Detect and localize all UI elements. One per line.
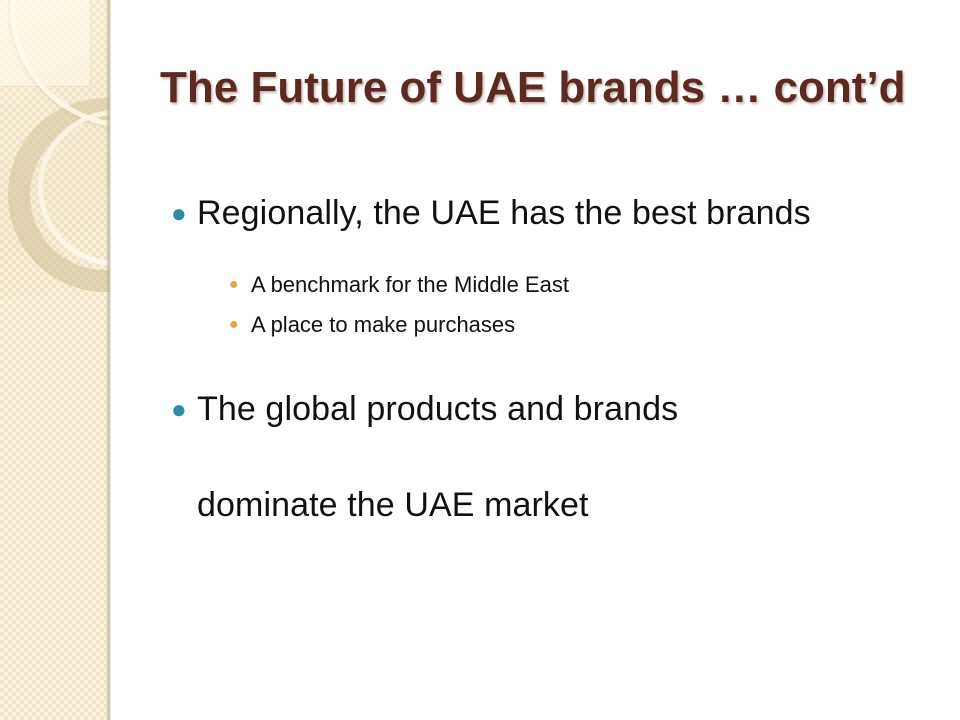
bullet-item-level1: ● The global products and brands dominat…: [165, 386, 945, 528]
bullet-text-line1: The global products and brands: [197, 390, 678, 428]
bullet-text-multiline: The global products and brands dominate …: [197, 386, 678, 528]
bullet-text: A benchmark for the Middle East: [251, 268, 569, 302]
decorative-sidebar: [0, 0, 110, 720]
sidebar-edge-stripe: [106, 0, 111, 720]
slide-title: The Future of UAE brands … cont’d: [160, 62, 950, 114]
bullet-text: Regionally, the UAE has the best brands: [197, 190, 811, 236]
bullet-dot-icon: ●: [165, 386, 197, 432]
bullet-small-dot-icon: ●: [227, 268, 251, 302]
bullet-small-dot-icon: ●: [227, 308, 251, 342]
bullet-item-level2: ● A benchmark for the Middle East: [227, 268, 945, 302]
spacer: [165, 348, 945, 386]
slide-body: ● Regionally, the UAE has the best brand…: [165, 190, 945, 538]
bullet-text: A place to make purchases: [251, 308, 515, 342]
sidebar-gradient-wash: [0, 0, 110, 300]
bullet-dot-icon: ●: [165, 190, 197, 236]
bullet-item-level1: ● Regionally, the UAE has the best brand…: [165, 190, 945, 236]
bullet-item-level2: ● A place to make purchases: [227, 308, 945, 342]
spacer: [165, 246, 945, 268]
bullet-text-line2: dominate the UAE market: [197, 482, 678, 528]
slide-canvas: The Future of UAE brands … cont’d ● Regi…: [0, 0, 960, 720]
